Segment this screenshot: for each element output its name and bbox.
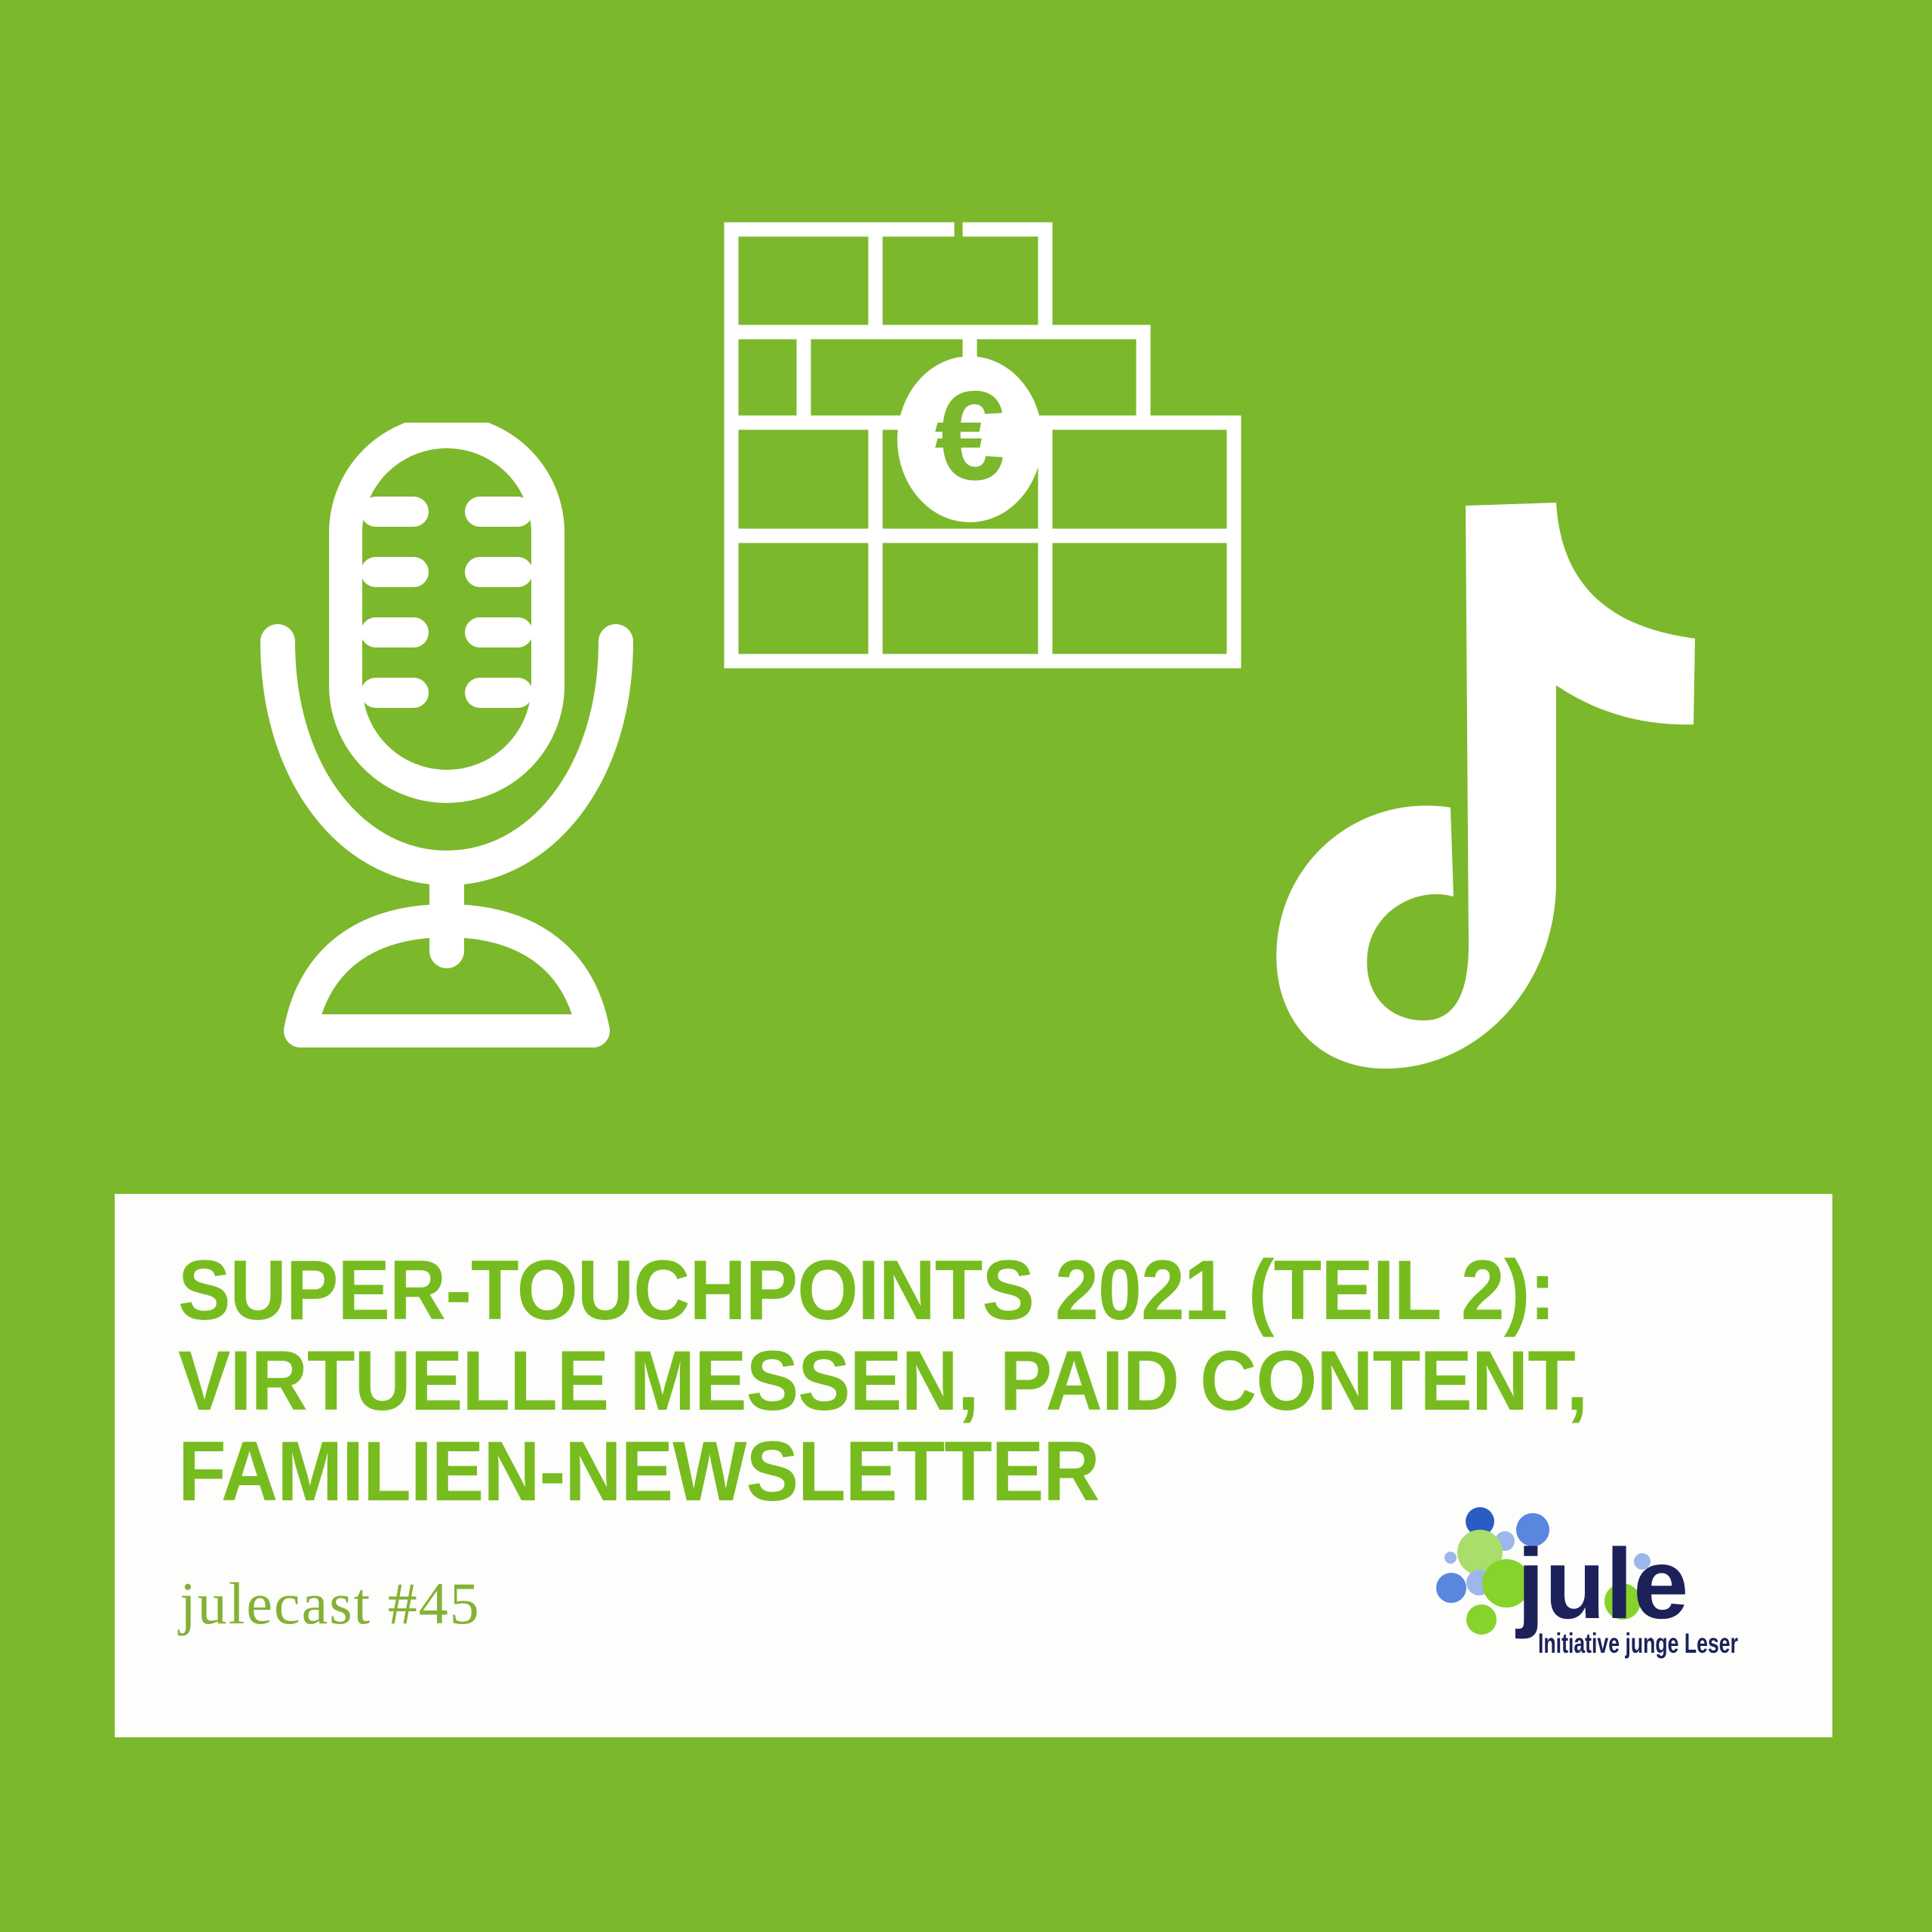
microphone-icon [249, 423, 641, 1057]
title-line-1: SUPER-TOUCHPOINTS 2021 (TEIL 2): [178, 1245, 1666, 1336]
tiktok-note-icon [1275, 498, 1728, 1087]
paywall-brick-wall-euro-icon: € [721, 219, 1249, 672]
jule-logo: jule Initiative junge Leser [1434, 1505, 1751, 1678]
logo-tagline: Initiative junge Leser [1538, 1628, 1738, 1659]
title-line-3: FAMILIEN-NEWSLETTER [178, 1426, 1666, 1517]
title-card: SUPER-TOUCHPOINTS 2021 (TEIL 2): VIRTUEL… [115, 1194, 1832, 1737]
episode-label: julecast #45 [180, 1571, 481, 1636]
podcast-cover: € SUPER-TOUCHPOINTS 2021 (TEIL 2): VIRTU… [0, 0, 1932, 1932]
page-title: SUPER-TOUCHPOINTS 2021 (TEIL 2): VIRTUEL… [178, 1245, 1778, 1517]
icon-band: € [0, 0, 1932, 1177]
title-line-2: VIRTUELLE MESSEN, PAID CONTENT, [178, 1336, 1666, 1426]
svg-text:€: € [934, 365, 1004, 506]
logo-wordmark: jule [1515, 1528, 1688, 1639]
